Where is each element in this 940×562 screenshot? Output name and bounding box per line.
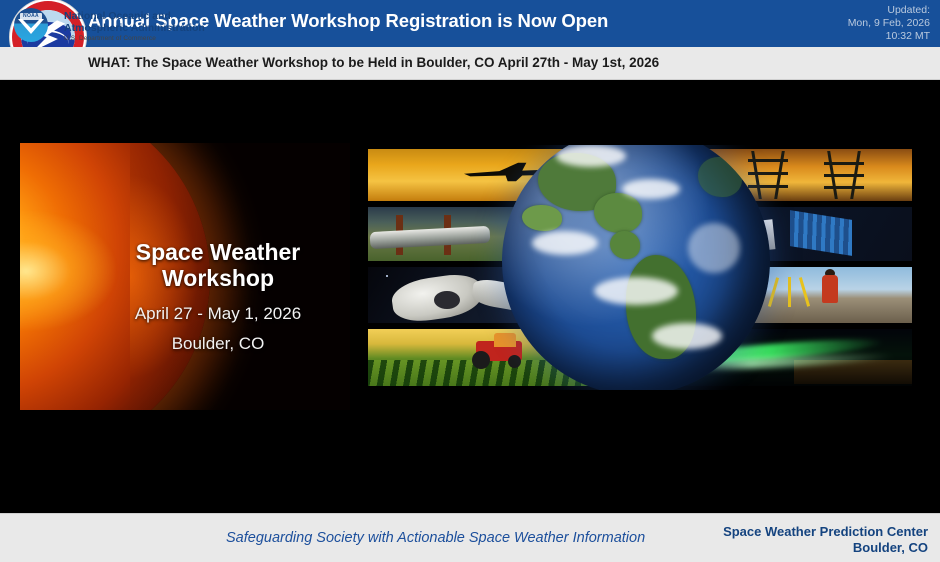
poster-title-line1: Space Weather bbox=[100, 239, 336, 265]
earth-globe-image bbox=[502, 145, 770, 390]
page-subtitle: WHAT: The Space Weather Workshop to be H… bbox=[88, 55, 659, 70]
updated-label: Updated: bbox=[848, 4, 930, 17]
noaa-department-line: U.S. Department of Commerce bbox=[64, 35, 156, 42]
noaa-name-line1: National Oceanic and bbox=[64, 10, 171, 22]
updated-timestamp: Updated: Mon, 9 Feb, 2026 10:32 MT bbox=[848, 4, 930, 43]
page-root: Annual Space Weather Workshop Registrati… bbox=[0, 0, 940, 562]
poster-dates: April 27 - May 1, 2026 bbox=[100, 303, 336, 325]
noaa-logo-icon: NOAA bbox=[14, 8, 60, 42]
footer-center-name: Space Weather Prediction Center bbox=[723, 524, 928, 539]
space-weather-impacts-collage[interactable] bbox=[362, 145, 918, 390]
footer-tagline: Safeguarding Society with Actionable Spa… bbox=[226, 530, 645, 546]
power-pylon-icon bbox=[824, 151, 864, 199]
survey-tripod-icon bbox=[772, 277, 806, 307]
workshop-poster-image[interactable]: Space Weather Workshop April 27 - May 1,… bbox=[20, 143, 350, 410]
footer-center-location: Boulder, CO bbox=[853, 540, 928, 555]
solar-panel-icon bbox=[790, 210, 852, 256]
noaa-name-line2: Atmospheric Administration bbox=[64, 22, 205, 34]
main-content-stage: Space Weather Workshop April 27 - May 1,… bbox=[0, 80, 940, 513]
power-pylon-icon bbox=[748, 151, 788, 199]
updated-time: 10:32 MT bbox=[848, 30, 930, 43]
noaa-bird-icon bbox=[18, 19, 44, 34]
poster-location: Boulder, CO bbox=[100, 333, 336, 355]
pipe-segment-icon bbox=[370, 226, 491, 249]
poster-title-line2: Workshop bbox=[100, 265, 336, 291]
surveyor-icon bbox=[822, 275, 838, 303]
updated-date: Mon, 9 Feb, 2026 bbox=[848, 17, 930, 30]
noaa-wordmark: NOAA bbox=[20, 13, 42, 20]
